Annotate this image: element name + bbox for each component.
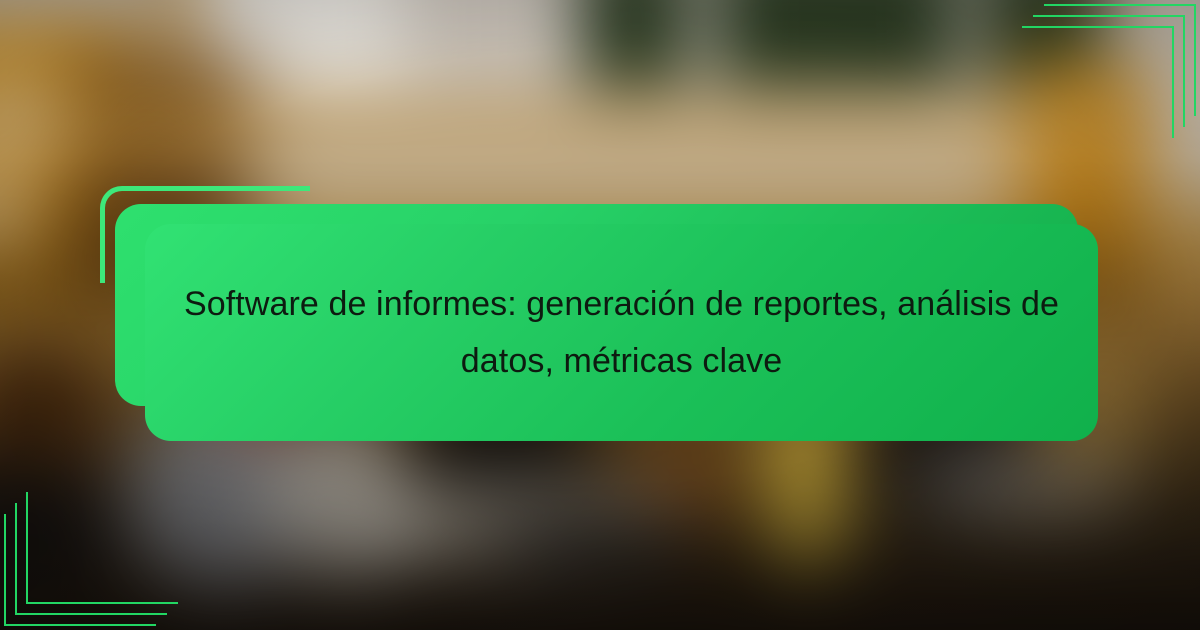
corner-bracket-bottom-left-inner [26, 492, 178, 604]
title-card: Software de informes: generación de repo… [145, 224, 1098, 441]
corner-bracket-top-right-inner [1022, 26, 1174, 138]
page-title: Software de informes: generación de repo… [182, 276, 1062, 390]
banner-canvas: Software de informes: generación de repo… [0, 0, 1200, 630]
